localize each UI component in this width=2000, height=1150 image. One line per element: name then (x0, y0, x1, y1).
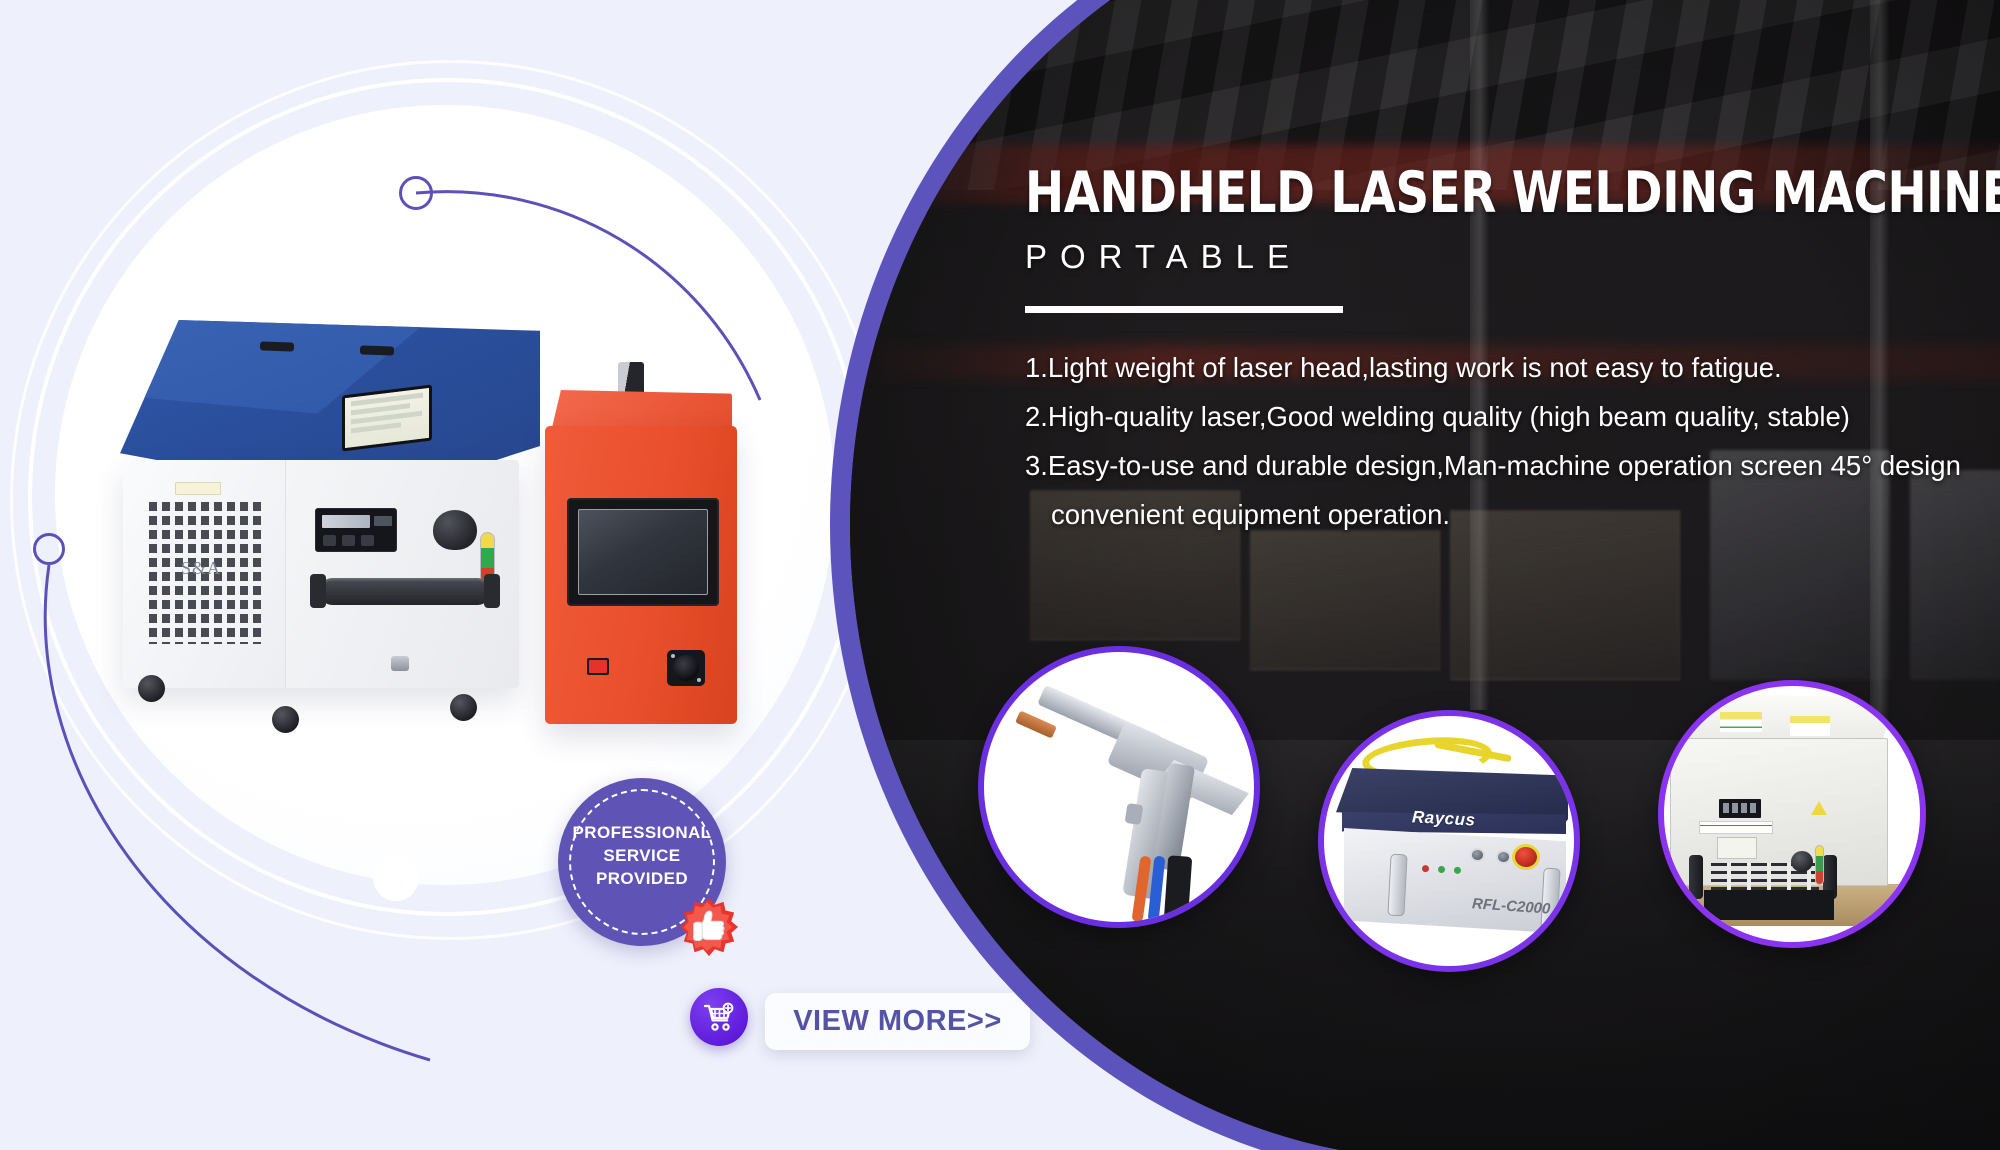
controller-power-switch (587, 658, 609, 675)
machine-knob (433, 510, 477, 550)
chiller-level-tube (1815, 845, 1824, 885)
gallery-circle-laser-source[interactable]: Raycus RFL-C2000 (1318, 710, 1580, 972)
thumbs-up-icon (678, 896, 740, 958)
source-front-face (1344, 828, 1566, 938)
chiller-knob (1791, 851, 1813, 872)
feature-item: 1.Light weight of laser head,lasting wor… (1025, 343, 1985, 392)
welding-gun-image (984, 652, 1254, 922)
cart-glyph (703, 1001, 735, 1033)
feature-item: 3.Easy-to-use and durable design,Man-mac… (1025, 441, 1985, 539)
machine-warning-label (175, 482, 221, 495)
machine-side-panel: S&A (123, 460, 286, 688)
source-handle (1540, 868, 1560, 931)
feature-list: 1.Light weight of laser head,lasting wor… (1025, 343, 1985, 539)
feature-item: 2.High-quality laser,Good welding qualit… (1025, 392, 1985, 441)
gun-cable-black (1164, 855, 1193, 923)
feature-text: 1.Light weight of laser head,lasting wor… (1025, 352, 1782, 383)
machine-touchscreen (342, 384, 432, 451)
gun-trigger (1125, 803, 1144, 825)
hero-content: HANDHELD LASER WELDING MACHINE PORTABLE … (1025, 165, 1985, 539)
controller-connector-port (667, 650, 705, 686)
chiller-base-shadow (1704, 890, 1834, 920)
page-subtitle: PORTABLE (1025, 238, 1985, 276)
badge-line-2: SERVICE (558, 844, 726, 867)
controller-body (545, 426, 737, 724)
machine-caster (138, 675, 165, 702)
chiller-spec-strip (1699, 821, 1773, 834)
product-image-welding-machine: S&A (120, 320, 550, 730)
decor-circle-outline-top (399, 176, 433, 210)
machine-brand-logo: S&A (181, 558, 221, 579)
raycus-source-image: Raycus RFL-C2000 (1324, 716, 1574, 966)
source-brand-logo: Raycus (1412, 807, 1476, 830)
badge-line-3: PROVIDED (558, 867, 726, 890)
chiller-label (1720, 712, 1762, 732)
machine-caster (450, 694, 477, 721)
machine-hinge (260, 341, 294, 351)
gun-copper-nozzle (1015, 710, 1057, 738)
machine-bolt (391, 656, 409, 671)
source-handle (1387, 854, 1407, 917)
product-banner: S&A (0, 0, 2000, 1150)
gallery-circle-welding-gun[interactable] (978, 646, 1260, 928)
decor-dot-b (373, 855, 419, 901)
chiller-image (1664, 686, 1920, 942)
feature-text: 3.Easy-to-use and durable design,Man-mac… (1025, 450, 1961, 481)
controller-screen-bezel (567, 498, 719, 606)
chiller-spec-table (1717, 837, 1757, 859)
chiller-label (1790, 716, 1830, 736)
gallery-circle-chiller[interactable] (1658, 680, 1926, 948)
product-image-red-controller (540, 390, 740, 730)
chiller-handle (1689, 855, 1703, 899)
professional-service-badge: PROFESSIONAL SERVICE PROVIDED (558, 778, 726, 946)
chiller-body (1670, 738, 1888, 886)
machine-handle (319, 578, 491, 605)
chiller-control-panel (1719, 799, 1761, 818)
badge-text: PROFESSIONAL SERVICE PROVIDED (558, 821, 726, 890)
badge-line-1: PROFESSIONAL (558, 821, 726, 844)
title-divider (1025, 306, 1343, 313)
shopping-cart-icon[interactable] (690, 988, 748, 1046)
page-title: HANDHELD LASER WELDING MACHINE (1025, 165, 1812, 222)
machine-white-body: S&A (123, 460, 519, 688)
feature-text-continuation: convenient equipment operation. (1025, 490, 1985, 539)
warning-triangle-icon (1811, 801, 1827, 815)
feature-text: 2.High-quality laser,Good welding qualit… (1025, 401, 1850, 432)
controller-screen (578, 509, 708, 595)
machine-hinge (360, 345, 394, 355)
machine-caster (272, 706, 299, 733)
machine-digital-display (315, 508, 397, 552)
decor-circle-outline-left (33, 533, 65, 565)
